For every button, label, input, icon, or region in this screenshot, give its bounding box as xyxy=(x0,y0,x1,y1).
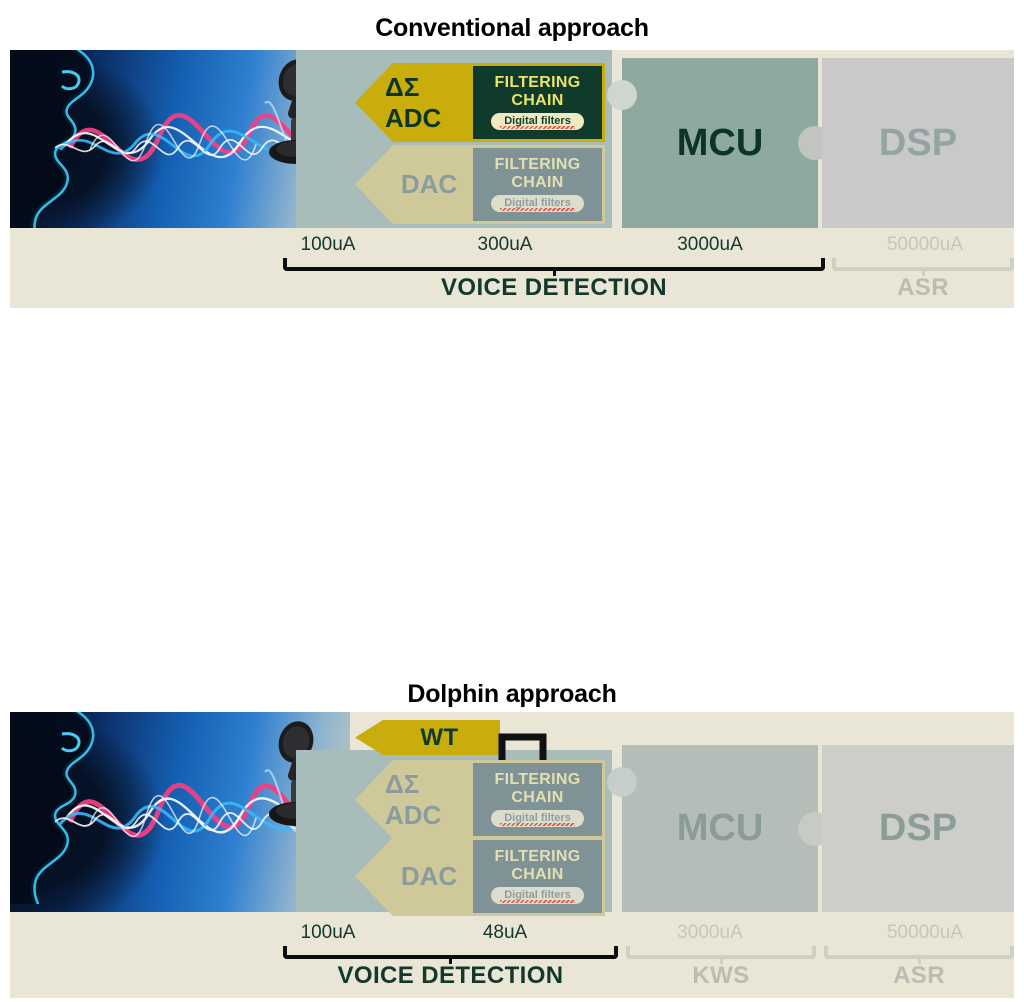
digital-filters-pill[interactable]: Digital filters xyxy=(491,810,584,827)
block-dsp-dolphin[interactable]: DSP xyxy=(822,745,1014,912)
bracket-kws xyxy=(626,946,816,959)
bracket-asr xyxy=(824,946,1014,959)
block-mcu-conventional[interactable]: MCU xyxy=(622,58,818,228)
block-dac-dolphin[interactable]: DAC FILTERING CHAIN Digital filters xyxy=(355,837,605,916)
filtering-chain-title-line1: FILTERING xyxy=(495,75,581,91)
spellcheck-underline-icon xyxy=(500,208,574,211)
group-label-asr: ASR xyxy=(832,274,1014,302)
filtering-chain-dac: FILTERING CHAIN Digital filters xyxy=(473,148,602,221)
adc-label: ΔΣ ADC xyxy=(355,760,473,839)
filtering-chain-dac: FILTERING CHAIN Digital filters xyxy=(473,840,602,913)
measurement-3000ua: 3000uA xyxy=(655,234,765,256)
measurement-50000ua: 50000uA xyxy=(865,234,985,256)
filtering-chain-title-line1: FILTERING xyxy=(495,772,581,788)
digital-filters-pill[interactable]: Digital filters xyxy=(491,887,584,904)
spellcheck-underline-icon xyxy=(500,900,574,903)
mcu-label: MCU xyxy=(677,807,764,850)
chevron-body: ΔΣ ADC FILTERING CHAIN Digital filters xyxy=(355,760,605,839)
block-adc-conventional[interactable]: ΔΣ ADC FILTERING CHAIN Digital filters xyxy=(355,63,605,142)
puzzle-notch-icon xyxy=(607,767,637,797)
chevron-body: ΔΣ ADC FILTERING CHAIN Digital filters xyxy=(355,63,605,142)
bracket-voice-detection xyxy=(283,946,618,959)
chevron-body: DAC FILTERING CHAIN Digital filters xyxy=(355,837,605,916)
page-title-dolphin: Dolphin approach xyxy=(0,680,1024,709)
measurement-48ua: 48uA xyxy=(450,922,560,944)
spellcheck-underline-icon xyxy=(500,126,574,129)
dac-label: DAC xyxy=(355,145,473,224)
filtering-chain-title-line2: CHAIN xyxy=(511,175,563,191)
filtering-chain-title-line2: CHAIN xyxy=(511,93,563,109)
mcu-label: MCU xyxy=(677,122,764,165)
digital-filters-pill[interactable]: Digital filters xyxy=(491,195,584,212)
puzzle-notch-icon xyxy=(607,80,637,110)
filtering-chain-adc: FILTERING CHAIN Digital filters xyxy=(473,66,602,139)
bracket-asr xyxy=(832,258,1014,271)
block-adc-dolphin[interactable]: ΔΣ ADC FILTERING CHAIN Digital filters xyxy=(355,760,605,839)
measurement-3000ua: 3000uA xyxy=(655,922,765,944)
measurement-100ua: 100uA xyxy=(283,922,373,944)
block-dac-conventional[interactable]: DAC FILTERING CHAIN Digital filters xyxy=(355,145,605,224)
wt-callout-badge[interactable]: WT xyxy=(355,720,500,755)
filtering-chain-title-line2: CHAIN xyxy=(511,867,563,883)
chevron-body: DAC FILTERING CHAIN Digital filters xyxy=(355,145,605,224)
section-conventional: Conventional approach xyxy=(0,0,1024,320)
group-label-voice-detection: VOICE DETECTION xyxy=(283,962,618,990)
measurement-100ua: 100uA xyxy=(283,234,373,256)
filtering-chain-title-line1: FILTERING xyxy=(495,849,581,865)
block-mcu-dolphin[interactable]: MCU xyxy=(622,745,818,912)
dsp-label: DSP xyxy=(879,807,957,850)
adc-label: ΔΣ ADC xyxy=(355,63,473,142)
group-label-asr: ASR xyxy=(824,962,1014,990)
bracket-voice-detection xyxy=(283,258,825,271)
dac-label: DAC xyxy=(355,837,473,916)
digital-filters-pill[interactable]: Digital filters xyxy=(491,113,584,130)
section-dolphin: Dolphin approach WT xyxy=(0,330,1024,672)
block-dsp-conventional[interactable]: DSP xyxy=(822,58,1014,228)
group-label-voice-detection: VOICE DETECTION xyxy=(283,274,825,302)
page-title-conventional: Conventional approach xyxy=(0,14,1024,43)
spellcheck-underline-icon xyxy=(500,823,574,826)
measurement-300ua: 300uA xyxy=(450,234,560,256)
group-label-kws: KWS xyxy=(626,962,816,990)
filtering-chain-title-line1: FILTERING xyxy=(495,157,581,173)
filtering-chain-adc: FILTERING CHAIN Digital filters xyxy=(473,763,602,836)
filtering-chain-title-line2: CHAIN xyxy=(511,790,563,806)
dsp-label: DSP xyxy=(879,122,957,165)
measurement-50000ua: 50000uA xyxy=(865,922,985,944)
